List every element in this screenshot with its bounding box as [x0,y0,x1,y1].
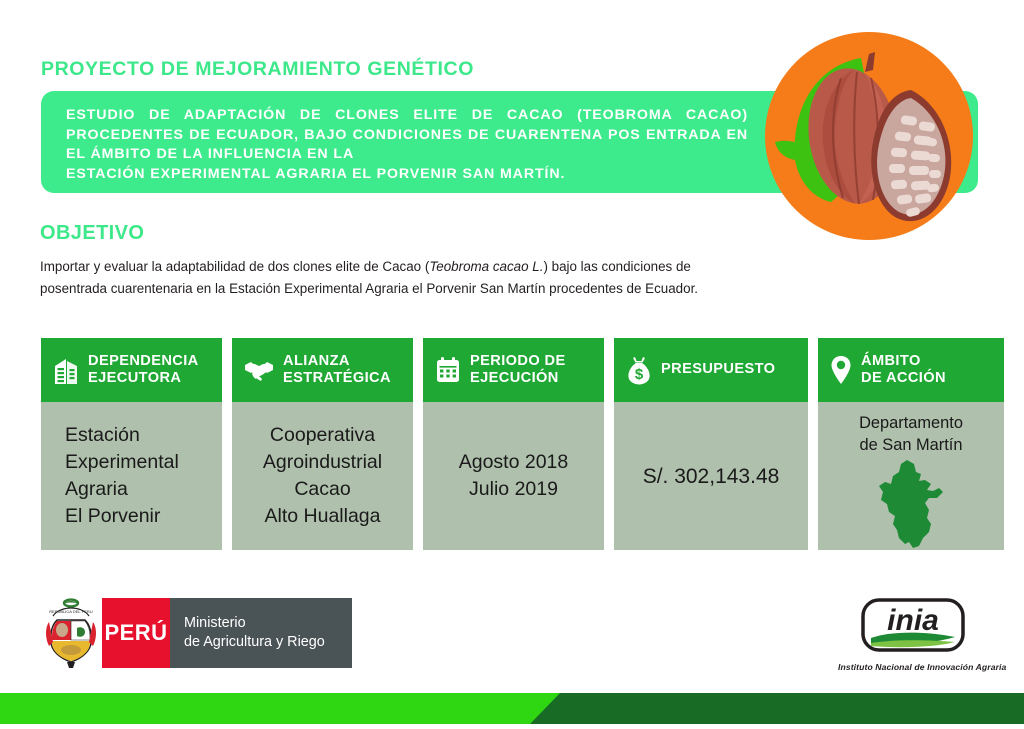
card-line: Julio 2019 [429,476,598,503]
card-title-line1: ÁMBITO [861,353,921,369]
card-title-line2: EJECUCIÓN [470,370,559,386]
card-alianza-estrategica: ALIANZA ESTRATÉGICA Cooperativa Agroindu… [232,338,413,550]
card-line: Experimental [65,449,222,476]
card-line: Agraria [65,476,222,503]
card-title-line1: DEPENDENCIA [88,353,199,369]
project-title-main: ESTUDIO DE ADAPTACIÓN DE CLONES ELITE DE… [66,107,748,162]
project-title-lastline: ESTACIÓN EXPERIMENTAL AGRARIA EL PORVENI… [66,165,748,185]
building-icon [53,355,79,385]
card-title: PRESUPUESTO [661,361,775,379]
card-line: de San Martín [824,434,998,456]
card-body: Departamento de San Martín [818,402,1004,550]
objective-text-part1: Importar y evaluar la adaptabilidad de d… [40,259,429,274]
card-body: Agosto 2018 Julio 2019 [423,402,604,550]
ministry-line2: de Agricultura y Riego [184,633,352,652]
svg-text:$: $ [635,366,644,383]
card-body: Estación Experimental Agraria El Porveni… [41,402,222,550]
card-title-line1: PERIODO DE [470,353,566,369]
card-line: El Porvenir [65,503,222,530]
svg-text:REPUBLICA DEL PERU: REPUBLICA DEL PERU [49,609,93,614]
handshake-icon [244,357,274,383]
card-title-line2: EJECUTORA [88,370,181,386]
card-line: S/. 302,143.48 [620,463,802,490]
card-header: $ PRESUPUESTO [614,338,808,402]
inia-tagline: Instituto Nacional de Innovación Agraria [838,662,988,672]
card-ambito-accion: ÁMBITO DE ACCIÓN Departamento de San Mar… [818,338,1004,550]
cacao-svg [765,32,973,240]
cacao-illustration [765,32,973,240]
card-line: Estación [65,422,222,449]
project-kicker: PROYECTO DE MEJORAMIENTO GENÉTICO [41,58,474,81]
ministry-line1: Ministerio [184,614,352,633]
objective-text: Importar y evaluar la adaptabilidad de d… [40,256,740,300]
inia-logo: inia Instituto Nacional de Innovación Ag… [838,598,988,672]
card-header: PERIODO DE EJECUCIÓN [423,338,604,402]
card-line: Agroindustrial [240,449,405,476]
peru-coat-of-arms-icon: REPUBLICA DEL PERU [40,598,102,668]
card-line: Cacao [240,476,405,503]
card-header: ALIANZA ESTRATÉGICA [232,338,413,402]
objective-species-name: Teobroma cacao L. [429,259,543,274]
project-title: ESTUDIO DE ADAPTACIÓN DE CLONES ELITE DE… [66,106,748,184]
card-periodo-ejecucion: PERIODO DE EJECUCIÓN Agosto 2018 Julio 2… [423,338,604,550]
card-title-line2: ESTRATÉGICA [283,370,391,386]
card-header: DEPENDENCIA EJECUTORA [41,338,222,402]
san-martin-map [824,458,998,550]
card-line: Departamento [824,412,998,434]
peru-ministry-logo: REPUBLICA DEL PERU PERÚ Ministerio de Ag… [40,598,352,668]
card-title: PERIODO DE EJECUCIÓN [470,353,566,388]
card-dependencia-ejecutora: DEPENDENCIA EJECUTORA Estación Experimen… [41,338,222,550]
card-title-line1: PRESUPUESTO [661,361,775,377]
infographic-page: PROYECTO DE MEJORAMIENTO GENÉTICO ESTUDI… [0,0,1024,724]
inia-logo-svg: inia [838,598,988,654]
card-presupuesto: $ PRESUPUESTO S/. 302,143.48 [614,338,808,550]
card-title-line1: ALIANZA [283,353,350,369]
card-header: ÁMBITO DE ACCIÓN [818,338,1004,402]
bottom-decorative-bar [0,693,1024,724]
money-bag-icon: $ [626,355,652,385]
card-title-line2: DE ACCIÓN [861,370,946,386]
card-title: ÁMBITO DE ACCIÓN [861,353,946,388]
info-card-row: DEPENDENCIA EJECUTORA Estación Experimen… [41,338,1004,550]
objective-heading: OBJETIVO [40,222,144,245]
calendar-icon [435,356,461,384]
location-pin-icon [830,355,852,385]
card-title: DEPENDENCIA EJECUTORA [88,353,199,388]
card-line: Alto Huallaga [240,503,405,530]
svg-text:inia: inia [887,604,939,637]
san-martin-map-svg [869,458,953,550]
ministry-label: Ministerio de Agricultura y Riego [170,598,352,668]
card-title: ALIANZA ESTRATÉGICA [283,353,391,388]
card-line: Cooperativa [240,422,405,449]
card-line: Agosto 2018 [429,449,598,476]
peru-label: PERÚ [102,598,170,668]
card-body: Cooperativa Agroindustrial Cacao Alto Hu… [232,402,413,550]
card-body: S/. 302,143.48 [614,402,808,550]
